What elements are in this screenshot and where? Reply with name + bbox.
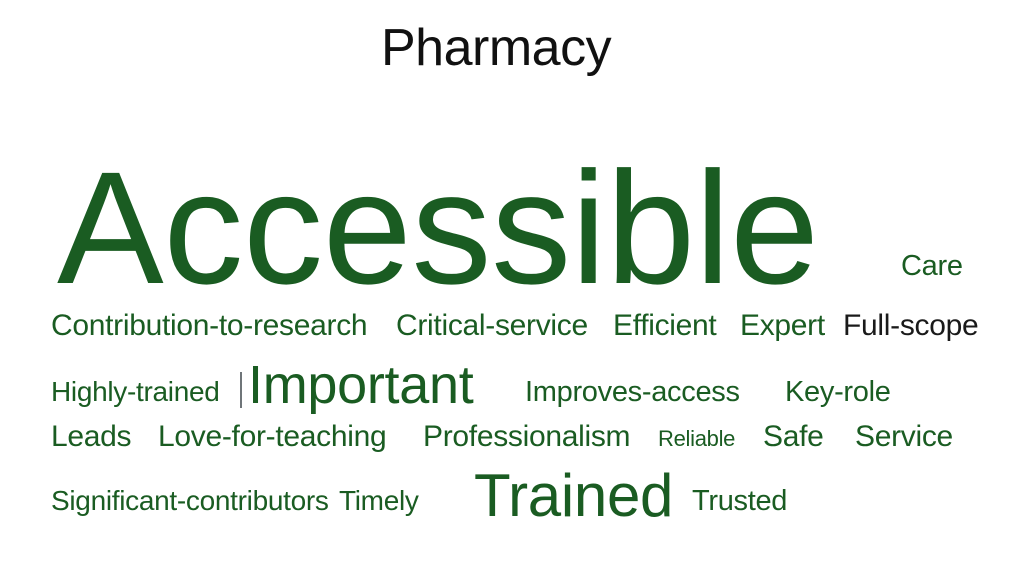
word-cloud-canvas: Pharmacy AccessibleCareContribution-to-r… (0, 0, 1024, 586)
cloud-word[interactable]: Improves-access (525, 378, 740, 407)
cloud-word[interactable]: Significant-contributors (51, 487, 329, 515)
cloud-word[interactable]: Contribution-to-research (51, 311, 367, 341)
text-cursor-caret (240, 372, 242, 408)
cloud-word[interactable]: Leads (51, 422, 131, 452)
cloud-word[interactable]: Care (901, 252, 963, 281)
cloud-word[interactable]: Important (248, 358, 473, 412)
cloud-word[interactable]: Key-role (785, 378, 891, 407)
cloud-word[interactable]: Efficient (613, 311, 716, 341)
cloud-word[interactable]: Accessible (57, 148, 819, 308)
cloud-word[interactable]: Service (855, 422, 953, 452)
cloud-word[interactable]: Trusted (692, 487, 787, 516)
cloud-word[interactable]: Critical-service (396, 311, 588, 341)
cloud-word[interactable]: Professionalism (423, 422, 630, 452)
cloud-word[interactable]: Safe (763, 422, 824, 452)
cloud-word[interactable]: Expert (740, 311, 825, 341)
cloud-word[interactable]: Love-for-teaching (158, 422, 386, 452)
cloud-word[interactable]: Full-scope (843, 311, 978, 341)
cloud-word[interactable]: Trained (474, 466, 673, 526)
cloud-word[interactable]: Timely (339, 487, 419, 515)
page-title: Pharmacy (381, 18, 611, 78)
cloud-word[interactable]: Highly-trained (51, 378, 220, 406)
cloud-word[interactable]: Reliable (658, 428, 735, 450)
